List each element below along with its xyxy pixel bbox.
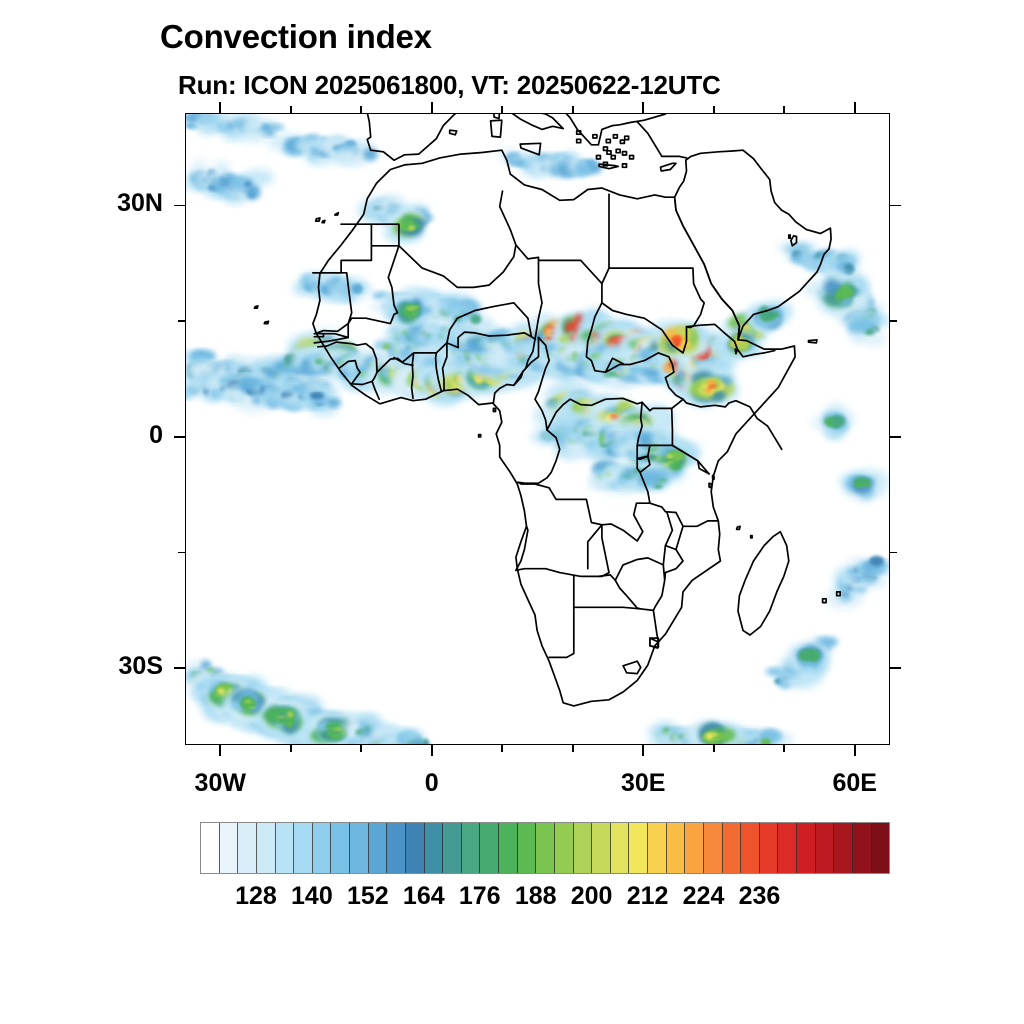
convection-cell <box>249 707 254 709</box>
colorbar-cell-36 <box>872 823 890 873</box>
convection-cell <box>334 728 341 731</box>
colorbar-cell-11 <box>406 823 425 873</box>
border-path <box>713 476 714 480</box>
convection-cell <box>244 700 252 703</box>
convection-cell <box>673 335 680 340</box>
border-path <box>735 349 737 354</box>
convection-cell <box>654 484 663 488</box>
convection-cell <box>865 330 874 335</box>
map-clip <box>186 114 889 744</box>
convection-cell <box>745 325 750 328</box>
colorbar-cell-28 <box>723 823 742 873</box>
convection-cell <box>844 264 853 271</box>
convection-cell <box>812 656 819 661</box>
colorbar-cell-16 <box>499 823 518 873</box>
x-tick-10 <box>501 745 503 752</box>
colorbar-cell-6 <box>313 823 332 873</box>
x-tick-top-20 <box>572 106 574 113</box>
y-axis-label-1: 0 <box>73 421 163 450</box>
colorbar-cell-21 <box>592 823 611 873</box>
convection-cell <box>303 381 330 389</box>
colorbar-cell-32 <box>797 823 816 873</box>
colorbar-labels: 128140152164176188200212224236 <box>200 882 890 916</box>
colorbar-cell-26 <box>685 823 704 873</box>
x-tick-top-40 <box>713 106 715 113</box>
colorbar-cell-14 <box>462 823 481 873</box>
colorbar-cell-13 <box>443 823 462 873</box>
convection-cell <box>854 477 871 485</box>
y-axis-label-0: 30N <box>73 189 163 218</box>
colorbar-cell-8 <box>350 823 369 873</box>
x-tick-top-10 <box>501 106 503 113</box>
colorbar-cell-22 <box>611 823 630 873</box>
convection-cell <box>262 124 270 130</box>
colorbar-cell-33 <box>816 823 835 873</box>
colorbar-cell-17 <box>518 823 537 873</box>
x-tick-30 <box>642 745 644 756</box>
y-tick-major-0 <box>174 436 185 438</box>
convection-cell <box>704 390 712 393</box>
y-tick-right-15 <box>890 320 897 322</box>
convection-cell <box>340 280 352 296</box>
x-tick-60 <box>854 745 856 756</box>
border-path <box>254 306 258 308</box>
colorbar-cell-7 <box>331 823 350 873</box>
border-path <box>264 321 268 323</box>
colorbar-cell-12 <box>425 823 444 873</box>
convection-cell <box>327 398 341 408</box>
colorbar-cell-1 <box>220 823 239 873</box>
colorbar-cell-0 <box>201 823 220 873</box>
colorbar-cell-10 <box>387 823 406 873</box>
convection-index-figure: Convection index Run: ICON 2025061800, V… <box>0 0 1024 1024</box>
colorbar-cell-20 <box>574 823 593 873</box>
colorbar-cell-31 <box>778 823 797 873</box>
colorbar-label-9: 236 <box>714 882 804 911</box>
convection-cell <box>406 307 415 311</box>
convection-cell <box>707 349 712 352</box>
x-tick-50 <box>783 745 785 752</box>
y-tick-right--15 <box>890 552 897 554</box>
africa-convection-map <box>186 114 889 744</box>
colorbar-cell-23 <box>629 823 648 873</box>
y-tick-right--30 <box>890 667 901 669</box>
convection-cell <box>708 380 716 384</box>
colorbar-cell-34 <box>834 823 853 873</box>
colorbar-cell-18 <box>536 823 555 873</box>
colorbar[interactable] <box>200 822 890 874</box>
y-tick-major--30 <box>174 667 185 669</box>
x-tick-top-30 <box>642 102 644 113</box>
convection-cell <box>410 226 415 229</box>
convection-cell <box>244 181 252 187</box>
x-tick-top--10 <box>360 106 362 113</box>
y-tick-right-0 <box>890 436 901 438</box>
convection-cell <box>470 314 481 324</box>
convection-cell <box>706 733 714 738</box>
x-tick-top-0 <box>431 102 433 113</box>
convection-cell <box>707 387 712 390</box>
colorbar-cell-30 <box>760 823 779 873</box>
colorbar-cell-24 <box>648 823 667 873</box>
colorbar-cell-3 <box>257 823 276 873</box>
x-tick--30 <box>219 745 221 756</box>
y-tick-minor--15 <box>178 552 185 554</box>
page-subtitle: Run: ICON 2025061800, VT: 20250622-12UTC <box>178 70 721 101</box>
convection-cell <box>352 284 363 295</box>
colorbar-cell-27 <box>704 823 723 873</box>
x-tick--20 <box>290 745 292 752</box>
convection-cell <box>843 288 853 296</box>
x-tick-20 <box>572 745 574 752</box>
convection-cell <box>641 369 666 375</box>
convection-cell <box>869 556 884 566</box>
y-axis-label-2: 30S <box>73 652 163 681</box>
y-tick-major-30 <box>174 205 185 207</box>
convection-cell <box>741 730 761 737</box>
convection-cell <box>279 719 297 724</box>
x-tick--10 <box>360 745 362 752</box>
convection-cell <box>587 159 596 168</box>
x-axis-label-0: 30W <box>150 769 290 798</box>
convection-cell <box>456 376 459 379</box>
border-path <box>322 220 325 222</box>
colorbar-cell-35 <box>853 823 872 873</box>
convection-cell <box>664 463 668 466</box>
x-tick-top-50 <box>783 106 785 113</box>
convection-cell <box>330 733 341 739</box>
convection-cell <box>575 330 578 332</box>
y-tick-right-30 <box>890 205 901 207</box>
convection-cell <box>445 305 478 315</box>
colorbar-cell-5 <box>294 823 313 873</box>
convection-cell <box>705 354 708 359</box>
x-tick-top--20 <box>290 106 292 113</box>
colorbar-cell-4 <box>276 823 295 873</box>
colorbar-cell-19 <box>555 823 574 873</box>
convection-cell <box>287 711 293 717</box>
convection-cell <box>278 716 286 718</box>
x-tick-40 <box>713 745 715 752</box>
colorbar-cell-15 <box>480 823 499 873</box>
x-axis-label-1: 0 <box>362 769 502 798</box>
x-tick-top--30 <box>219 102 221 113</box>
convection-cell <box>672 340 679 344</box>
border-path <box>751 536 752 538</box>
y-tick-minor-15 <box>178 320 185 322</box>
colorbar-cell-29 <box>741 823 760 873</box>
convection-cell <box>228 689 231 694</box>
x-axis-label-2: 30E <box>573 769 713 798</box>
x-tick-0 <box>431 745 433 756</box>
colorbar-cell-25 <box>667 823 686 873</box>
convection-cell <box>389 371 394 375</box>
map-plot-panel <box>185 113 890 745</box>
x-axis-label-3: 60E <box>785 769 925 798</box>
convection-cell <box>832 416 845 427</box>
convection-cell <box>667 455 672 458</box>
convection-cell <box>310 392 324 400</box>
convection-cell <box>669 461 673 463</box>
colorbar-cell-9 <box>369 823 388 873</box>
page-title: Convection index <box>160 18 432 56</box>
colorbar-cell-2 <box>238 823 257 873</box>
convection-cell <box>217 688 225 694</box>
convection-cell <box>245 185 261 200</box>
convection-cell <box>739 341 742 344</box>
border-path <box>789 235 790 238</box>
x-tick-top-60 <box>854 102 856 113</box>
